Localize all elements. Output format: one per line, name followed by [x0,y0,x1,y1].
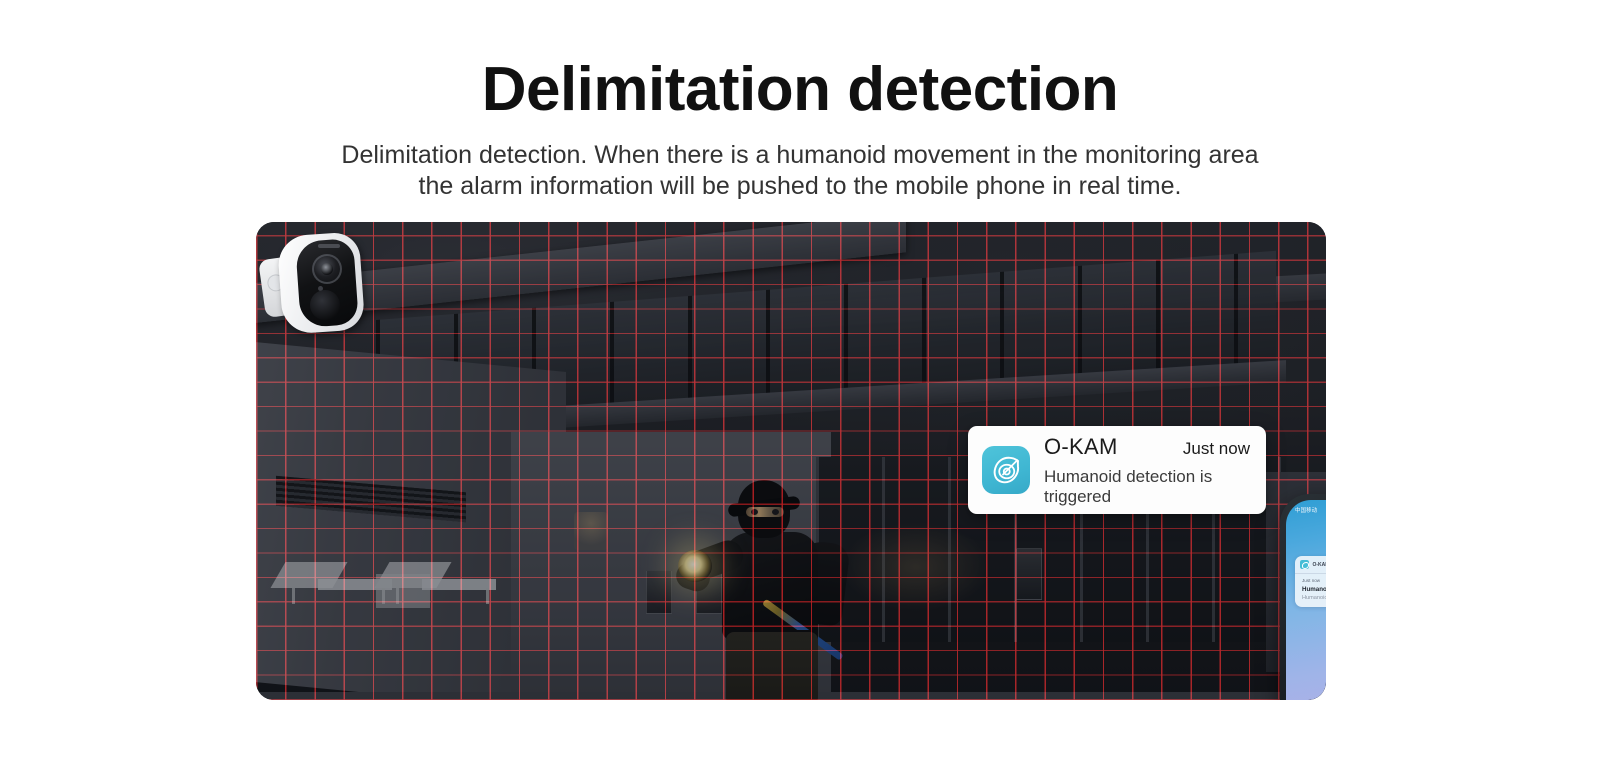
okam-app-icon [982,446,1030,494]
callout-top-row: O-KAM Just now [1044,434,1250,460]
notification-body-subtitle: Humanoid detection is triggered [1302,595,1326,601]
okam-app-icon [1300,560,1309,569]
callout-app-name: O-KAM [1044,434,1118,460]
callout-text-block: O-KAM Just now Humanoid detection is tri… [1044,434,1250,507]
subtitle-line-2: the alarm information will be pushed to … [0,171,1600,202]
notification-header-row[interactable]: O-KAM Just now ⌃ [1295,556,1326,574]
phone-screen[interactable]: 中国移动 HD O-KAM Just now ⌃ Just now [1286,500,1326,700]
page-title: Delimitation detection [0,56,1600,124]
notification-body-time: Just now [1302,578,1326,583]
camera-pir-sensor [310,290,340,320]
notification-body-title: Humanoid detection is triggered [1302,586,1326,593]
callout-message: Humanoid detection is triggered [1044,467,1250,507]
notification-app-name: O-KAM [1313,562,1327,568]
page-root: Delimitation detection Delimitation dete… [0,0,1600,764]
phone-notification-panel[interactable]: O-KAM Just now ⌃ Just now Humanoid detec… [1295,556,1326,607]
security-camera [262,228,370,340]
camera-lens-icon [312,254,342,284]
carrier-label: 中国移动 [1295,506,1317,514]
phone-status-bar: 中国移动 HD [1286,500,1326,519]
page-subtitle: Delimitation detection. When there is a … [0,140,1600,201]
camera-top-strip [318,244,340,248]
eye-lens-icon [988,452,1024,488]
notification-callout-card[interactable]: O-KAM Just now Humanoid detection is tri… [968,426,1266,514]
callout-timestamp: Just now [1183,439,1250,459]
smartphone-mockup: 中国移动 HD O-KAM Just now ⌃ Just now [1280,494,1326,700]
subtitle-line-1: Delimitation detection. When there is a … [0,140,1600,171]
notification-body[interactable]: Just now Humanoid detection is triggered… [1295,574,1326,607]
